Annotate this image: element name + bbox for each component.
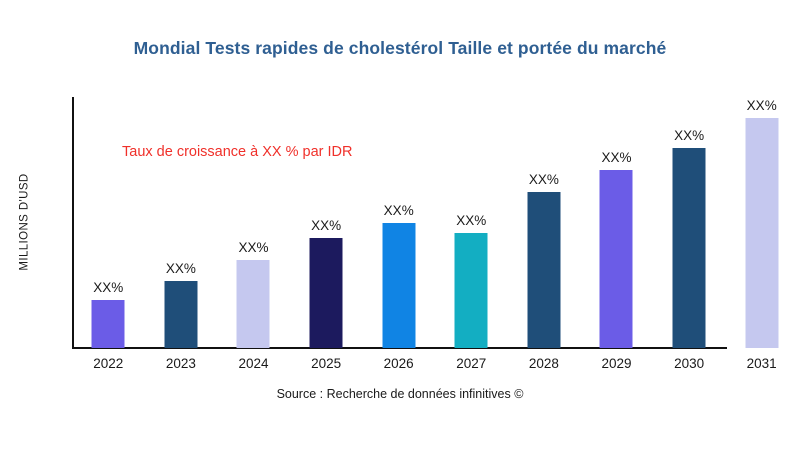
- bar-value-label: XX%: [601, 150, 631, 165]
- bar-group: XX%: [217, 97, 290, 348]
- chart-container: Mondial Tests rapides de cholestérol Tai…: [0, 0, 800, 450]
- x-axis-tick-label: 2030: [653, 356, 726, 371]
- x-axis-tick-label: 2031: [725, 356, 798, 371]
- x-axis-tick-label: 2023: [145, 356, 218, 371]
- bar-group: XX%: [72, 97, 145, 348]
- bar-value-label: XX%: [747, 98, 777, 113]
- bar-value-label: XX%: [529, 172, 559, 187]
- bar-value-label: XX%: [166, 261, 196, 276]
- bar-group: XX%: [725, 97, 798, 348]
- bar: [673, 148, 706, 348]
- x-axis-tick-label: 2025: [290, 356, 363, 371]
- growth-rate-annotation: Taux de croissance à XX % par IDR: [122, 144, 353, 160]
- bar: [310, 238, 343, 348]
- x-axis-tick-label: 2028: [508, 356, 581, 371]
- bar: [382, 223, 415, 348]
- bar-group: XX%: [435, 97, 508, 348]
- bar-value-label: XX%: [674, 128, 704, 143]
- x-axis-tick-label: 2022: [72, 356, 145, 371]
- bar-group: XX%: [362, 97, 435, 348]
- bar-group: XX%: [145, 97, 218, 348]
- bar: [164, 281, 197, 348]
- x-axis-tick-label: 2026: [362, 356, 435, 371]
- source-caption: Source : Recherche de données infinitive…: [0, 387, 800, 401]
- bar-group: XX%: [290, 97, 363, 348]
- plot-area: XX%XX%XX%XX%XX%XX%XX%XX%XX%XX%: [72, 97, 800, 348]
- y-axis-label-text: MILLIONS D'USD: [19, 173, 31, 270]
- bar-group: XX%: [580, 97, 653, 348]
- bar-group: XX%: [508, 97, 581, 348]
- x-axis-tick-label: 2029: [580, 356, 653, 371]
- y-axis-label: MILLIONS D'USD: [14, 97, 36, 347]
- x-axis-tick-label: 2024: [217, 356, 290, 371]
- bar: [527, 192, 560, 348]
- bar-value-label: XX%: [93, 280, 123, 295]
- x-axis-tick-label: 2027: [435, 356, 508, 371]
- chart-title: Mondial Tests rapides de cholestérol Tai…: [0, 38, 800, 59]
- bar: [745, 118, 778, 348]
- bar-value-label: XX%: [311, 218, 341, 233]
- bar: [455, 233, 488, 348]
- bar: [237, 260, 270, 348]
- bar: [92, 300, 125, 348]
- bar-value-label: XX%: [238, 240, 268, 255]
- bar: [600, 170, 633, 348]
- bar-group: XX%: [653, 97, 726, 348]
- bar-value-label: XX%: [456, 213, 486, 228]
- bar-value-label: XX%: [384, 203, 414, 218]
